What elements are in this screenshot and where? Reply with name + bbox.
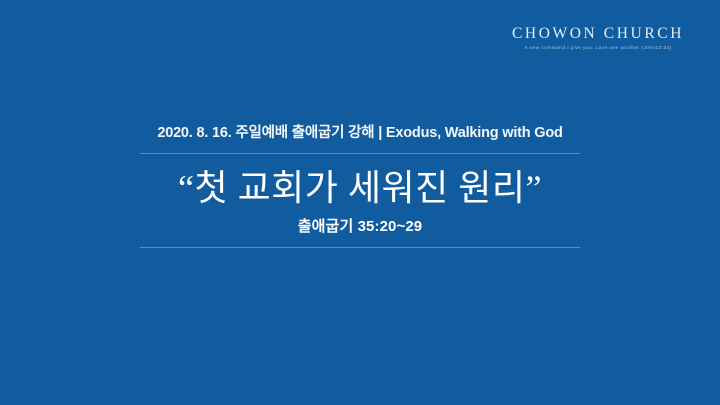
scripture-reference: 출애굽기 35:20~29 [140,215,580,236]
divider-top [140,153,580,154]
divider-bottom [140,247,580,248]
church-tagline: A new command I give you: Love one anoth… [512,47,684,52]
sermon-title-block: 2020. 8. 16. 주일예배 출애굽기 강해 | Exodus, Walk… [140,124,580,248]
sermon-title-slide: CHOWON CHURCH A new command I give you: … [0,0,720,405]
church-name: CHOWON CHURCH [512,26,684,42]
sermon-main-title: “첫 교회가 세워진 원리” [140,167,580,209]
sermon-series-line: 2020. 8. 16. 주일예배 출애굽기 강해 | Exodus, Walk… [140,124,580,144]
church-logo: CHOWON CHURCH A new command I give you: … [512,26,684,51]
